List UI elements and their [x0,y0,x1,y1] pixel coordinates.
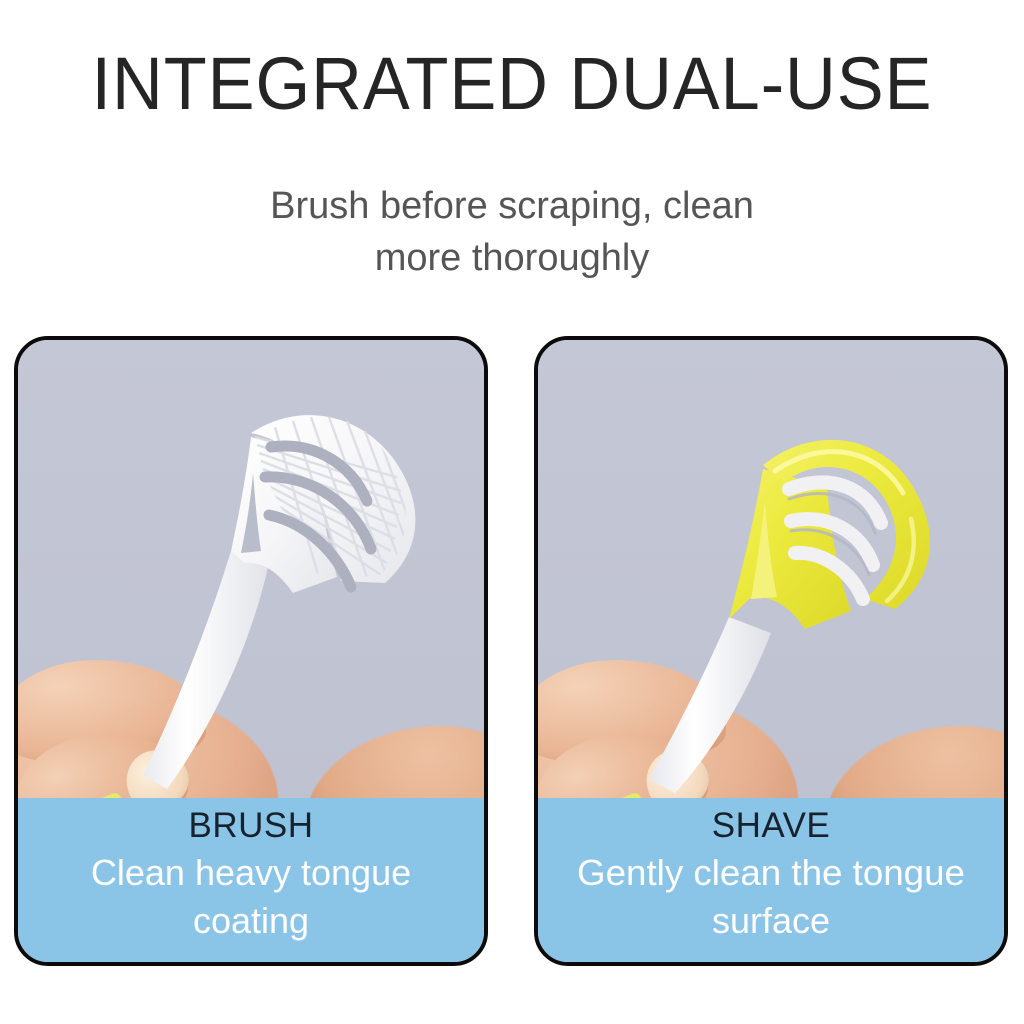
header: INTEGRATED DUAL-USE Brush before scrapin… [0,0,1024,300]
tongue-brush-icon [55,340,455,797]
page-title: INTEGRATED DUAL-USE [26,44,999,124]
tongue-scraper-icon [575,340,975,797]
product-photo-brush [18,340,484,806]
caption-desc-line-1: Clean heavy tongue [18,849,484,896]
caption-title: BRUSH [18,804,484,848]
subtitle-line-1: Brush before scraping, clean [162,180,862,232]
page-subtitle: Brush before scraping, clean more thorou… [162,180,862,284]
feature-card-shave[interactable]: SHAVE Gently clean the tongue surface [534,336,1008,966]
feature-cards: BRUSH Clean heavy tongue coating [0,336,1024,976]
card-caption-shave: SHAVE Gently clean the tongue surface [538,798,1004,962]
caption-title: SHAVE [538,804,1004,848]
product-photo-shave [538,340,1004,806]
caption-desc-line-2: coating [18,897,484,944]
subtitle-line-2: more thoroughly [162,232,862,284]
feature-card-brush[interactable]: BRUSH Clean heavy tongue coating [14,336,488,966]
caption-desc-line-1: Gently clean the tongue [534,849,1008,896]
caption-desc-line-2: surface [538,897,1004,944]
card-caption-brush: BRUSH Clean heavy tongue coating [18,798,484,962]
